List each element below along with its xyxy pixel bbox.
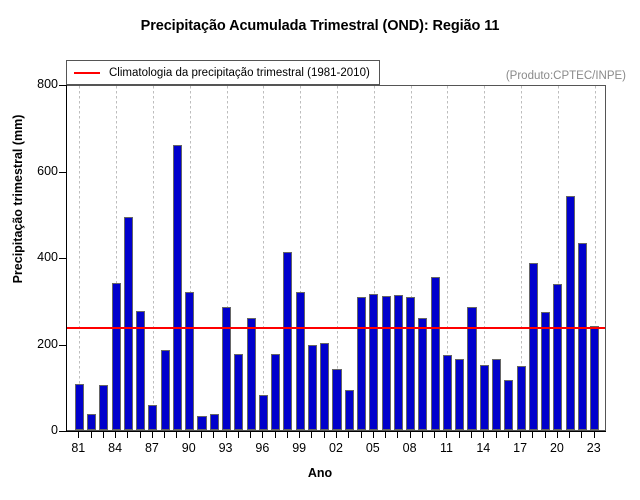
y-tick-label: 600 bbox=[24, 164, 58, 178]
x-tick bbox=[299, 432, 300, 438]
x-tick-label: 17 bbox=[505, 441, 535, 455]
x-tick-label: 81 bbox=[63, 441, 93, 455]
x-tick bbox=[164, 432, 165, 438]
x-tick bbox=[373, 432, 374, 438]
legend-line-swatch-icon bbox=[74, 72, 100, 74]
x-tick bbox=[471, 432, 472, 438]
x-tick-label: 96 bbox=[247, 441, 277, 455]
x-tick-label: 05 bbox=[358, 441, 388, 455]
x-tick bbox=[238, 432, 239, 438]
x-tick bbox=[545, 432, 546, 438]
x-tick bbox=[201, 432, 202, 438]
x-tick bbox=[127, 432, 128, 438]
climatology-reference-line-layer bbox=[67, 86, 605, 430]
x-tick bbox=[581, 432, 582, 438]
x-tick-label: 23 bbox=[579, 441, 609, 455]
x-tick bbox=[361, 432, 362, 438]
x-tick bbox=[103, 432, 104, 438]
x-tick-label: 90 bbox=[174, 441, 204, 455]
x-tick bbox=[446, 432, 447, 438]
x-tick bbox=[483, 432, 484, 438]
y-axis bbox=[66, 85, 67, 431]
x-tick bbox=[557, 432, 558, 438]
x-tick bbox=[397, 432, 398, 438]
y-tick bbox=[59, 431, 66, 432]
x-tick bbox=[532, 432, 533, 438]
x-tick bbox=[348, 432, 349, 438]
legend-label: Climatologia da precipitação trimestral … bbox=[109, 67, 370, 79]
x-tick bbox=[336, 432, 337, 438]
y-tick-label: 800 bbox=[24, 77, 58, 91]
x-tick bbox=[311, 432, 312, 438]
x-tick bbox=[115, 432, 116, 438]
attribution-text: (Produto:CPTEC/INPE) bbox=[506, 70, 626, 82]
x-tick bbox=[91, 432, 92, 438]
x-tick-label: 84 bbox=[100, 441, 130, 455]
legend: Climatologia da precipitação trimestral … bbox=[66, 60, 380, 85]
x-tick-label: 87 bbox=[137, 441, 167, 455]
chart-page: Precipitação Acumulada Trimestral (OND):… bbox=[0, 0, 640, 500]
y-tick bbox=[59, 85, 66, 86]
x-tick bbox=[569, 432, 570, 438]
x-tick-label: 08 bbox=[395, 441, 425, 455]
x-tick bbox=[496, 432, 497, 438]
y-axis-title: Precipitação trimestral (mm) bbox=[11, 69, 25, 329]
y-tick-label: 0 bbox=[24, 423, 58, 437]
y-tick bbox=[59, 258, 66, 259]
x-tick-label: 02 bbox=[321, 441, 351, 455]
x-tick-label: 11 bbox=[431, 441, 461, 455]
climatology-reference-line bbox=[67, 327, 605, 329]
x-tick bbox=[213, 432, 214, 438]
x-tick bbox=[176, 432, 177, 438]
x-tick-label: 99 bbox=[284, 441, 314, 455]
x-tick bbox=[410, 432, 411, 438]
x-tick bbox=[459, 432, 460, 438]
chart-title: Precipitação Acumulada Trimestral (OND):… bbox=[0, 18, 640, 34]
x-tick bbox=[152, 432, 153, 438]
y-tick bbox=[59, 345, 66, 346]
x-tick bbox=[434, 432, 435, 438]
plot-area bbox=[66, 85, 606, 431]
x-tick bbox=[140, 432, 141, 438]
x-tick bbox=[226, 432, 227, 438]
x-tick-label: 93 bbox=[211, 441, 241, 455]
x-axis-title: Ano bbox=[0, 466, 640, 480]
x-tick bbox=[594, 432, 595, 438]
x-tick bbox=[275, 432, 276, 438]
x-tick-label: 14 bbox=[468, 441, 498, 455]
y-tick bbox=[59, 172, 66, 173]
x-tick bbox=[250, 432, 251, 438]
x-tick-label: 20 bbox=[542, 441, 572, 455]
y-tick-label: 200 bbox=[24, 337, 58, 351]
x-tick bbox=[385, 432, 386, 438]
x-tick bbox=[324, 432, 325, 438]
x-tick bbox=[78, 432, 79, 438]
x-tick bbox=[508, 432, 509, 438]
x-tick bbox=[287, 432, 288, 438]
x-tick bbox=[422, 432, 423, 438]
x-tick bbox=[189, 432, 190, 438]
x-tick bbox=[520, 432, 521, 438]
x-tick bbox=[262, 432, 263, 438]
y-tick-label: 400 bbox=[24, 250, 58, 264]
